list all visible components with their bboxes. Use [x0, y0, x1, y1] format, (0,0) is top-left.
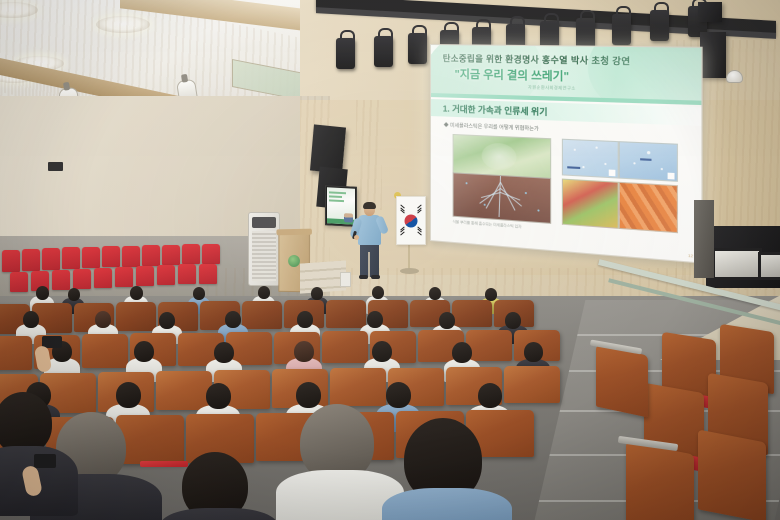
- empty-red-seat: [199, 264, 217, 284]
- slide-title-line2: "지금 우리 곁의 쓰레기": [455, 65, 695, 87]
- speaker-hair: [363, 202, 376, 209]
- hanging-speaker-icon: [310, 124, 346, 173]
- auditorium-photo: 탄소중립을 위한 환경명사 홍수열 박사 초청 강연 "지금 우리 곁의 쓰레기…: [0, 0, 780, 520]
- empty-red-seat: [42, 248, 60, 270]
- av-monitor-icon: [712, 248, 762, 280]
- ac-vent-icon: [252, 217, 276, 228]
- empty-red-seat: [202, 244, 220, 264]
- korean-flag: [396, 196, 426, 245]
- plant-roots-diagram: [453, 172, 552, 224]
- speaker-leg-gap: [368, 252, 370, 277]
- stage-spotlight-icon: [408, 33, 427, 64]
- projection-screen: 탄소중립을 위한 환경명사 홍수열 박사 초청 강연 "지금 우리 곁의 쓰레기…: [430, 44, 703, 264]
- empty-red-seat: [22, 249, 40, 271]
- apples-tomatoes-photo: [562, 179, 619, 229]
- empty-red-seat: [182, 244, 200, 264]
- speaker-hand: [354, 235, 359, 240]
- wall-monitor: [325, 185, 357, 227]
- empty-red-seat: [2, 250, 20, 272]
- empty-red-seat: [62, 247, 80, 269]
- ac-grille: [252, 231, 276, 281]
- air-conditioner: [248, 212, 280, 286]
- wall-speaker-icon: [48, 162, 63, 171]
- section-heading-text: 1. 거대한 가속과 인류세 위기: [443, 102, 548, 118]
- microscopy-blue-2: [619, 141, 678, 182]
- speaker-shoe: [371, 275, 380, 279]
- flag-stand: [400, 268, 419, 274]
- podium-emblem-icon: [288, 255, 300, 267]
- slide-page-number: 12: [688, 253, 693, 259]
- empty-red-seat: [82, 247, 100, 268]
- monitor-speaker-thumbnail: [344, 213, 353, 222]
- empty-red-seat: [178, 264, 196, 284]
- stage-spotlight-icon: [576, 18, 595, 49]
- monitor-screen: [327, 187, 355, 224]
- podium-top: [276, 229, 311, 236]
- empty-red-seat: [142, 245, 160, 266]
- stage-spotlight-icon: [336, 38, 355, 69]
- empty-seat: [596, 344, 648, 417]
- av-panel-dark: [694, 200, 714, 278]
- empty-red-seat: [162, 245, 180, 265]
- stage-spotlight-icon: [612, 14, 631, 45]
- microscopy-blue-1: [562, 139, 619, 179]
- empty-red-seat: [122, 246, 140, 267]
- stage-spotlight-icon: [374, 36, 393, 67]
- camera-icon: [34, 454, 56, 468]
- av-monitor-icon: [758, 252, 780, 280]
- wall-speaker-icon: [700, 32, 726, 78]
- organizer-logo: 자원순환사회경제연구소: [528, 84, 576, 91]
- wall-speaker-icon: [698, 2, 722, 22]
- slide-bullet-text: ◆ 미세플라스틱은 우리를 어떻게 위협하는가: [444, 122, 539, 133]
- stage-spotlight-icon: [650, 10, 669, 41]
- empty-red-seat: [102, 246, 120, 267]
- slide-title-banner: 탄소중립을 위한 환경명사 홍수열 박사 초청 강연 "지금 우리 곁의 쓰레기…: [431, 45, 701, 101]
- dome-camera-icon: [726, 70, 743, 83]
- empty-seat-block-right: [636, 336, 780, 520]
- carrots-photo: [619, 182, 678, 233]
- speaker-shoe: [359, 275, 368, 279]
- wood-column-mid: [356, 100, 382, 210]
